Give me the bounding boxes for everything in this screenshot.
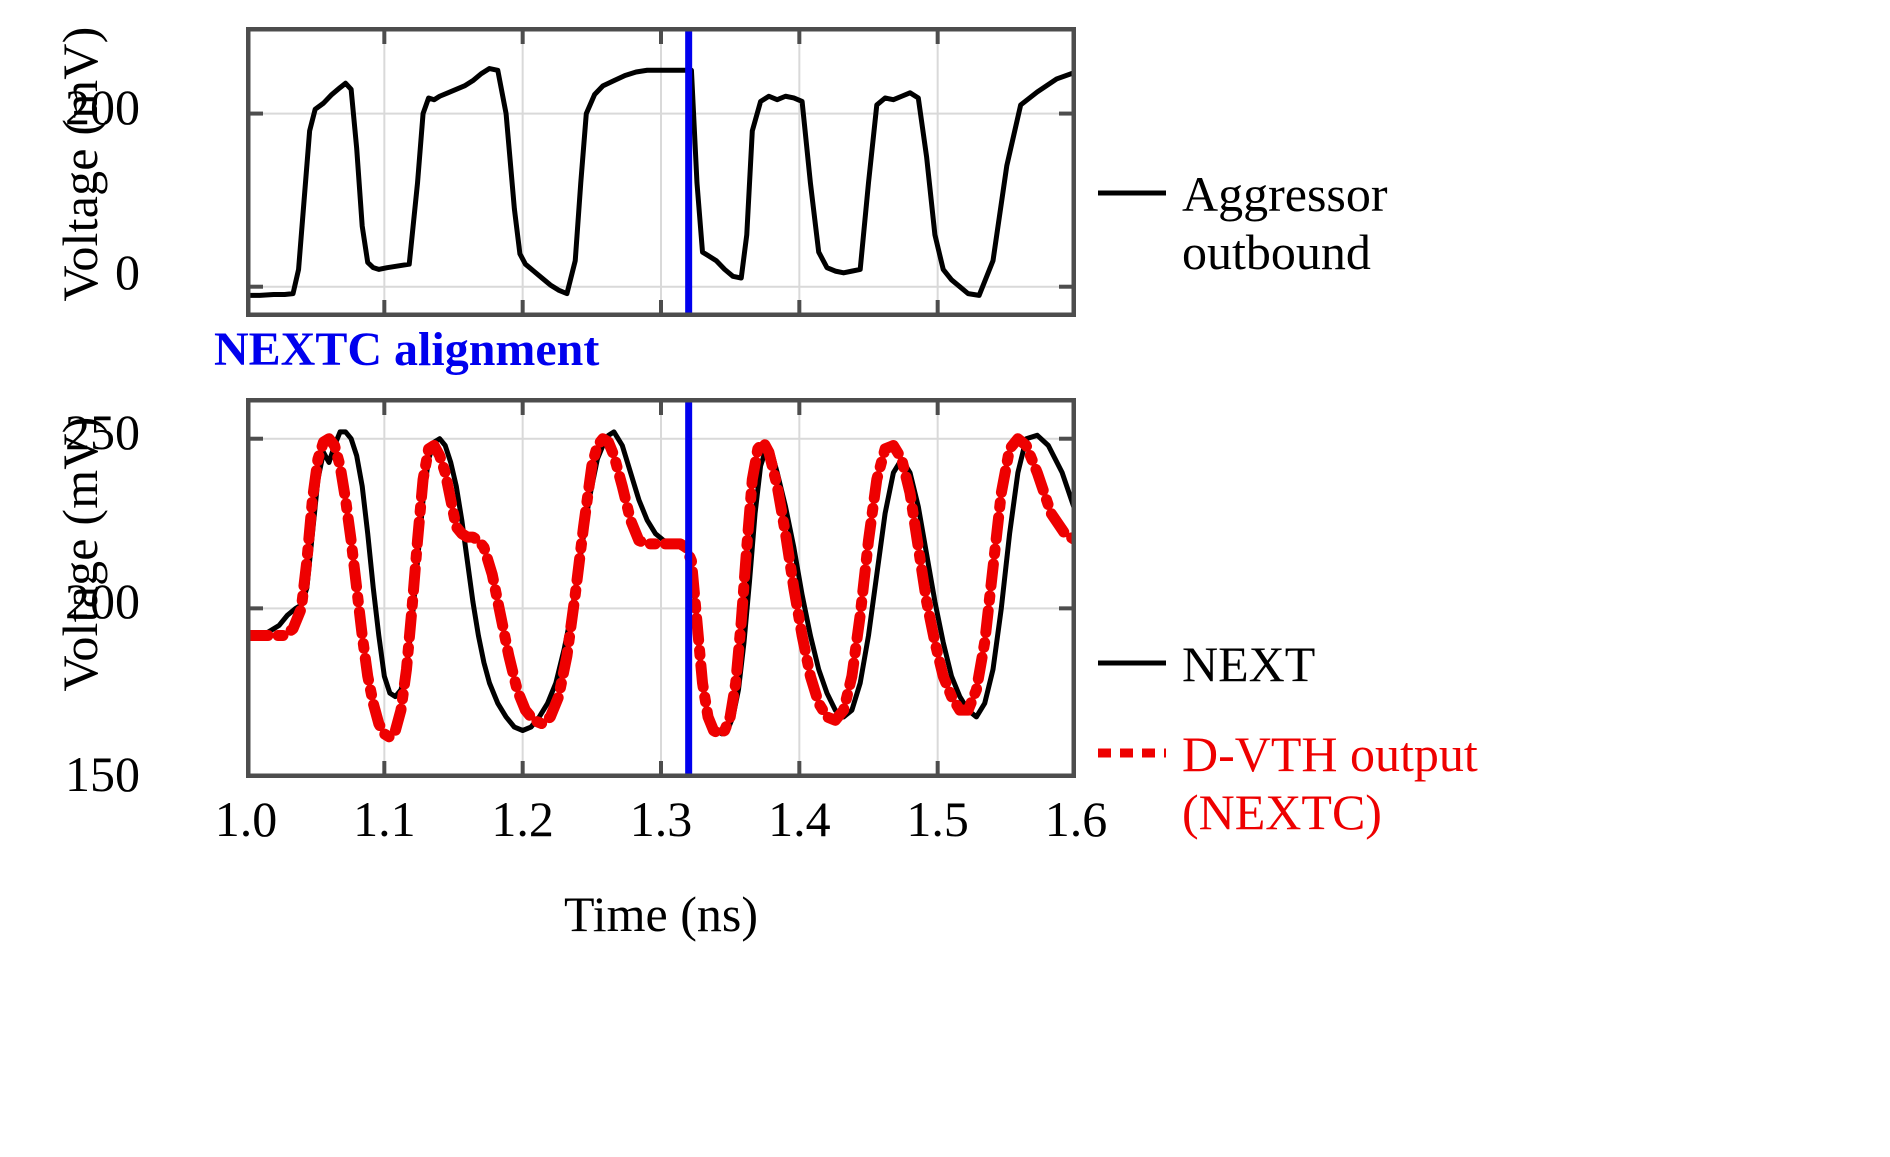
legend-item-next[interactable]: NEXT (1096, 635, 1315, 693)
x-tick-label-1.0: 1.0 (166, 790, 326, 848)
legend-label-aggressor: Aggressor outbound (1182, 165, 1388, 281)
figure-root: Voltage (mV) 200 0 NEXTC alignment Volta… (0, 0, 1890, 1157)
x-tick-label-1.2: 1.2 (443, 790, 603, 848)
legend-label-dvth-line2: (NEXTC) (1182, 783, 1478, 841)
legend-item-aggressor-outbound[interactable]: Aggressor outbound (1096, 165, 1388, 281)
x-tick-label-1.3: 1.3 (581, 790, 741, 848)
legend-label-aggressor-line2: outbound (1182, 223, 1388, 281)
x-tick-label-1.4: 1.4 (719, 790, 879, 848)
legend-label-next: NEXT (1182, 635, 1315, 693)
legend-label-dvth: D-VTH output (NEXTC) (1182, 725, 1478, 841)
x-tick-label-1.5: 1.5 (858, 790, 1018, 848)
nextc-alignment-annotation: NEXTC alignment (214, 322, 599, 377)
y-tick-label-top-200: 200 (40, 78, 140, 136)
y-tick-label-bottom-250: 250 (20, 403, 140, 461)
y-tick-label-top-0: 0 (40, 243, 140, 301)
legend-label-aggressor-line1: Aggressor (1182, 165, 1388, 223)
bottom-panel-plot (246, 398, 1076, 778)
legend-line-sample-aggressor (1096, 165, 1168, 217)
legend-item-d-vth-output[interactable]: D-VTH output (NEXTC) (1096, 725, 1478, 841)
top-panel-plot (246, 27, 1076, 317)
legend-line-sample-next (1096, 635, 1168, 687)
x-tick-label-1.1: 1.1 (304, 790, 464, 848)
y-tick-label-bottom-150: 150 (20, 745, 140, 803)
legend-label-dvth-line1: D-VTH output (1182, 725, 1478, 783)
x-axis-title: Time (ns) (246, 885, 1076, 943)
legend-line-sample-dvth (1096, 725, 1168, 777)
y-tick-label-bottom-200: 200 (20, 572, 140, 630)
